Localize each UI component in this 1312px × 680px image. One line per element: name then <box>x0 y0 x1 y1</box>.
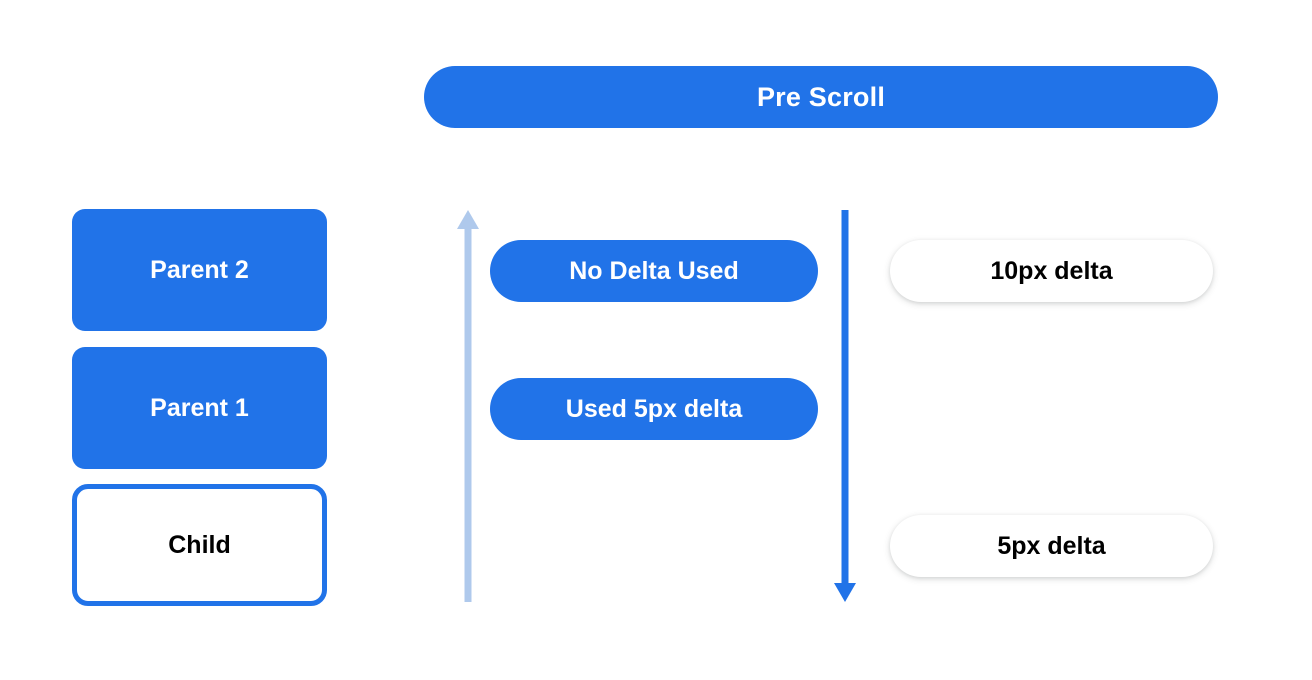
five-px-delta-label: 5px delta <box>997 532 1105 561</box>
diagram-canvas: Pre Scroll Parent 2 Parent 1 Child No De… <box>0 0 1312 680</box>
pre-scroll-header-pill: Pre Scroll <box>424 66 1218 128</box>
down-arrow-icon <box>829 210 861 602</box>
stack-box-parent-1: Parent 1 <box>72 347 327 469</box>
ten-px-delta-label: 10px delta <box>990 257 1112 286</box>
up-arrow-icon <box>452 210 484 602</box>
stack-box-parent-1-label: Parent 1 <box>150 394 249 423</box>
ten-px-delta-pill: 10px delta <box>890 240 1213 302</box>
stack-box-parent-2-label: Parent 2 <box>150 256 249 285</box>
stack-box-child-label: Child <box>168 531 231 560</box>
pre-scroll-label: Pre Scroll <box>757 82 885 113</box>
five-px-delta-pill: 5px delta <box>890 515 1213 577</box>
used-5px-delta-pill: Used 5px delta <box>490 378 818 440</box>
stack-box-child: Child <box>72 484 327 606</box>
stack-box-parent-2: Parent 2 <box>72 209 327 331</box>
no-delta-used-pill: No Delta Used <box>490 240 818 302</box>
no-delta-used-label: No Delta Used <box>569 257 738 286</box>
used-5px-delta-label: Used 5px delta <box>566 395 742 424</box>
